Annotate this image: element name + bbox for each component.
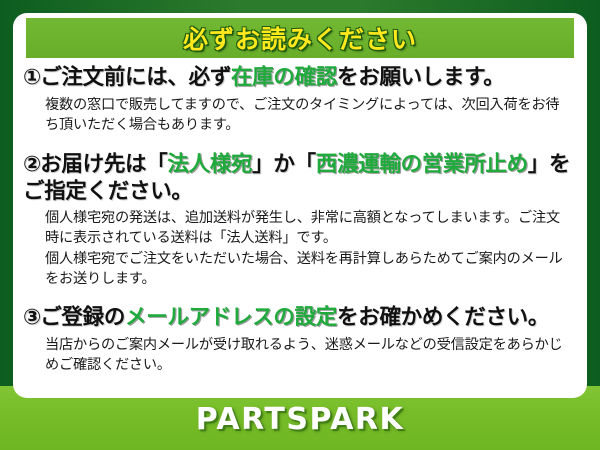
heading-text: をお確かめください。 bbox=[337, 305, 549, 330]
item-2-heading: ②お届け先は「法人様宛」か「西濃運輸の営業所止め」をご指定ください。 bbox=[23, 152, 579, 205]
heading-text: お届け先は「 bbox=[40, 152, 167, 177]
content-panel: 必ずお読みください ①ご注文前には、必ず在庫の確認をお願いします。 複数の窓口で… bbox=[13, 13, 587, 398]
notice-card: 必ずお読みください ①ご注文前には、必ず在庫の確認をお願いします。 複数の窓口で… bbox=[0, 0, 600, 450]
highlighted-phrase: メールアドレスの設定 bbox=[125, 305, 337, 330]
item-number: ② bbox=[23, 152, 40, 177]
highlighted-phrase: 西濃運輸の営業所止め bbox=[316, 152, 528, 177]
heading-text: 」か「 bbox=[252, 152, 316, 177]
item-2-body: 個人様宅宛の発送は、追加送料が発生し、非常に高額となってしまいます。ご注文時に表… bbox=[45, 208, 579, 289]
highlighted-phrase: 法人様宛 bbox=[167, 152, 252, 177]
notice-list: ①ご注文前には、必ず在庫の確認をお願いします。 複数の窓口で販売してますので、ご… bbox=[13, 65, 587, 375]
list-item: ③ご登録のメールアドレスの設定をお確かめください。 当店からのご案内メールが受け… bbox=[13, 305, 587, 375]
item-1-body: 複数の窓口で販売してますので、ご注文のタイミングによっては、次回入荷をお待ち頂い… bbox=[45, 95, 579, 135]
heading-text: ご注文前には、必ず bbox=[40, 65, 231, 90]
footer-brand-area: PARTSPARK bbox=[0, 396, 600, 442]
item-3-body: 当店からのご案内メールが受け取れるよう、迷惑メールなどの受信設定をあらかじめご確… bbox=[45, 335, 579, 375]
list-item: ①ご注文前には、必ず在庫の確認をお願いします。 複数の窓口で販売してますので、ご… bbox=[13, 65, 587, 135]
item-1-heading: ①ご注文前には、必ず在庫の確認をお願いします。 bbox=[23, 65, 579, 92]
highlighted-phrase: 在庫の確認 bbox=[231, 65, 337, 90]
brand-logo-text: PARTSPARK bbox=[196, 402, 405, 437]
heading-text: ご登録の bbox=[40, 305, 125, 330]
header-band: 必ずお読みください bbox=[26, 18, 574, 58]
item-number: ① bbox=[23, 65, 40, 90]
item-number: ③ bbox=[23, 305, 40, 330]
page-title: 必ずお読みください bbox=[183, 20, 417, 56]
item-3-heading: ③ご登録のメールアドレスの設定をお確かめください。 bbox=[23, 305, 579, 332]
heading-text: をお願いします。 bbox=[337, 65, 504, 90]
list-item: ②お届け先は「法人様宛」か「西濃運輸の営業所止め」をご指定ください。 個人様宅宛… bbox=[13, 152, 587, 289]
